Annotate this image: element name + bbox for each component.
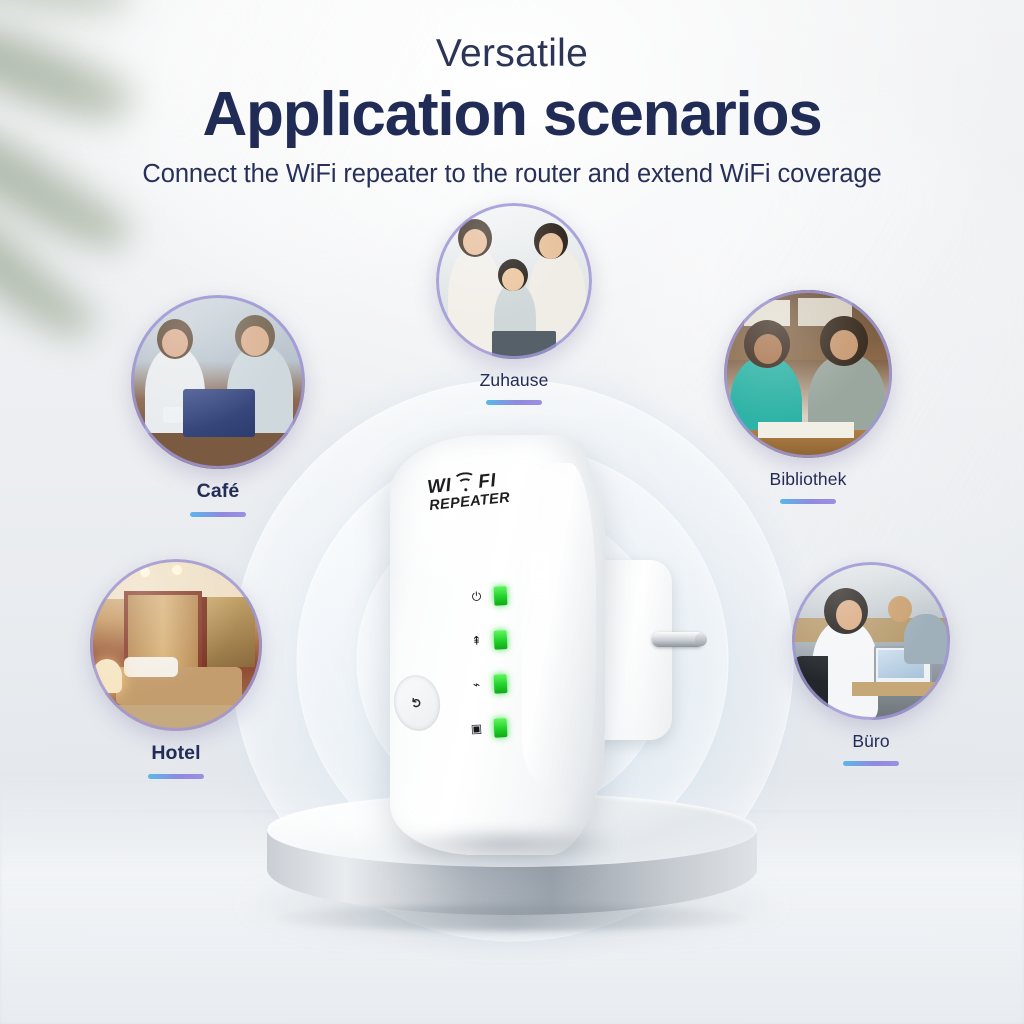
ethernet-icon: ▣ [470,722,484,736]
led-row-wireless: ⌁ [469,672,507,696]
scenario-label-hotel: Hotel [88,742,264,765]
scenario-cafe[interactable]: Café [128,295,308,517]
antenna-icon: ⇞ [470,634,484,648]
led-row-signal: ⇞ [469,628,507,652]
headline-block: Versatile Application scenarios Connect … [0,34,1024,189]
scenario-photo-cafe [131,295,305,469]
scenario-bibliothek[interactable]: Bibliothek [722,290,894,504]
scenario-photo-hotel [90,559,262,731]
scenario-underline-cafe [190,512,246,517]
scenario-label-cafe: Café [128,480,308,503]
device-gloss-highlight [530,495,550,645]
led-lamp-wireless [493,674,507,694]
wifi-repeater-device[interactable]: WI FI REPEATER ⏻ ⇞ ⌁ ▣ [372,435,672,855]
device-contact-shadow [392,827,622,861]
led-lamp-power [493,586,507,606]
scenario-photo-buero [792,562,950,720]
palm-leaf-decor [0,0,133,29]
scenario-zuhause[interactable]: Zuhause [434,203,594,405]
wps-icon: ↺ [408,696,425,709]
scenario-hotel[interactable]: Hotel [88,559,264,779]
led-lamp-ethernet [493,718,507,738]
scenario-underline-hotel [148,774,204,779]
pedestal-rim-shadow [269,905,755,931]
scenario-underline-zuhause [486,400,542,405]
page-title: Application scenarios [0,82,1024,148]
wifi-arc-icon [455,476,475,492]
led-row-power: ⏻ [469,584,507,608]
led-indicator-group: ⏻ ⇞ ⌁ ▣ [470,585,507,761]
photo-scene-buero [792,562,950,720]
scenario-underline-bibliothek [780,499,836,504]
scenario-label-buero: Büro [790,731,952,752]
eu-plug-prong-icon [652,632,704,647]
scenario-label-bibliothek: Bibliothek [722,469,894,490]
led-row-ethernet: ▣ [469,716,507,740]
scenario-buero[interactable]: Büro [790,562,952,766]
marketing-banner: Versatile Application scenarios Connect … [0,0,1024,1024]
power-icon: ⏻ [470,590,484,604]
scenario-label-zuhause: Zuhause [434,370,594,391]
scenario-photo-bibliothek [724,290,892,458]
subtitle-text: Connect the WiFi repeater to the router … [0,160,1024,189]
led-lamp-signal [493,630,507,650]
wireless-icon: ⌁ [470,678,484,692]
photo-scene-hotel [90,559,262,731]
scenario-photo-zuhause [436,203,592,359]
scenario-underline-buero [843,761,899,766]
photo-scene-cafe [131,295,305,469]
photo-scene-zuhause [436,203,592,359]
kicker-text: Versatile [0,34,1024,73]
photo-scene-bibliothek [724,290,892,458]
